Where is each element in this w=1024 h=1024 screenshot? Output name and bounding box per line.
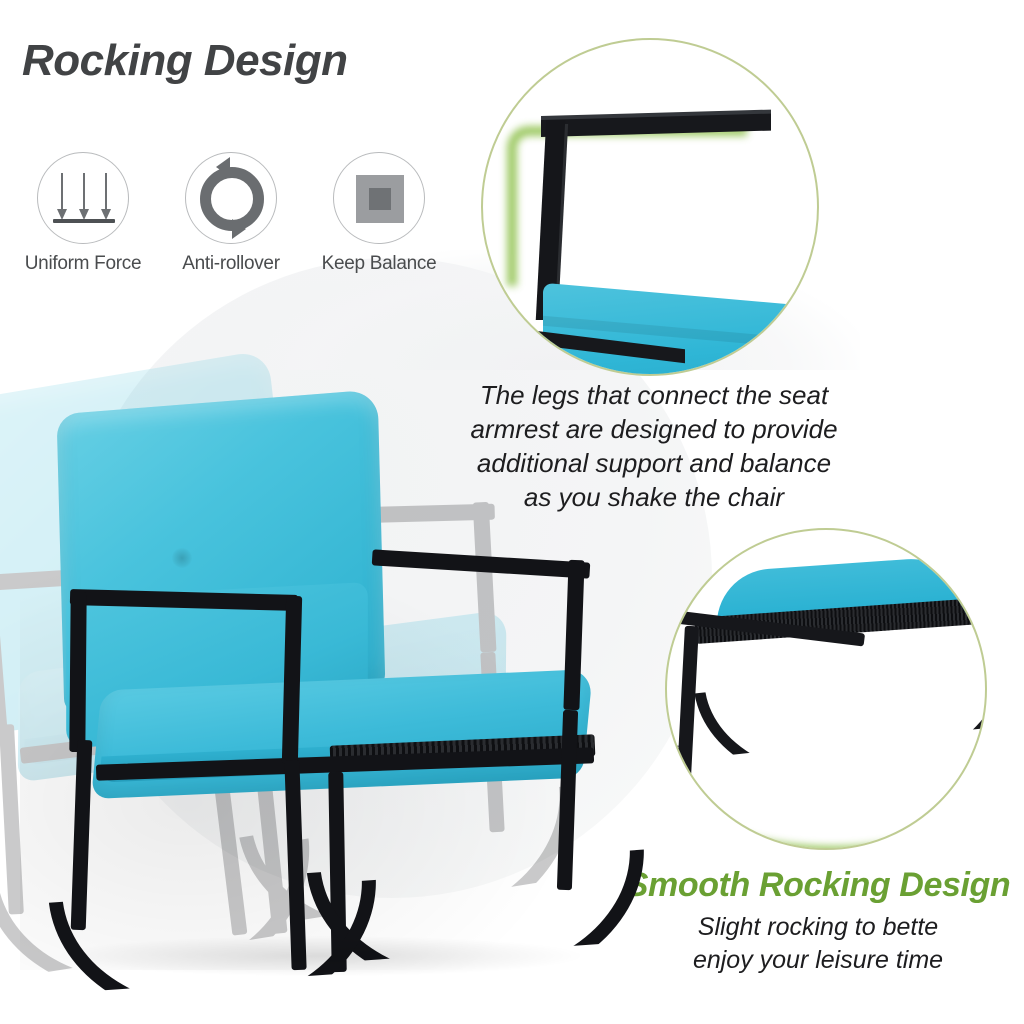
feature-anti-rollover: Anti-rollover bbox=[156, 152, 306, 275]
callout-line: enjoy your leisure time bbox=[612, 944, 1024, 977]
rocker-base-detail-photo bbox=[665, 528, 987, 850]
teal-rocking-chair-photo bbox=[0, 380, 620, 1000]
page-title: Rocking Design bbox=[22, 36, 348, 86]
ground-shadow bbox=[60, 936, 580, 976]
cushion-tuft bbox=[172, 548, 192, 568]
callout-line: Slight rocking to bette bbox=[612, 911, 1024, 944]
feature-keep-balance: Keep Balance bbox=[304, 152, 454, 275]
feature-uniform-force: Uniform Force bbox=[8, 152, 158, 275]
rocking-chair-front bbox=[0, 380, 620, 1000]
callout-heading: Smooth Rocking Design bbox=[612, 866, 1024, 905]
left-arm-front-post bbox=[69, 592, 86, 752]
circular-rotation-arrows-icon bbox=[185, 152, 277, 244]
nested-squares-icon bbox=[333, 152, 425, 244]
down-arrows-on-bar-icon bbox=[37, 152, 129, 244]
armrest-leg-detail-photo bbox=[481, 38, 819, 376]
feature-icon-row: Uniform Force Anti-rollover Keep Balance bbox=[8, 152, 468, 292]
feature-label: Uniform Force bbox=[8, 253, 158, 275]
motion-swoosh-decor bbox=[689, 726, 979, 850]
feature-label: Keep Balance bbox=[304, 253, 454, 275]
infographic-canvas: Rocking Design Uniform Force Anti-rollov… bbox=[0, 0, 1024, 1024]
feature-label: Anti-rollover bbox=[156, 253, 306, 275]
callout-subtext: Slight rocking to bette enjoy your leisu… bbox=[612, 911, 1024, 977]
smooth-rocking-callout: Smooth Rocking Design Slight rocking to … bbox=[612, 866, 1024, 977]
